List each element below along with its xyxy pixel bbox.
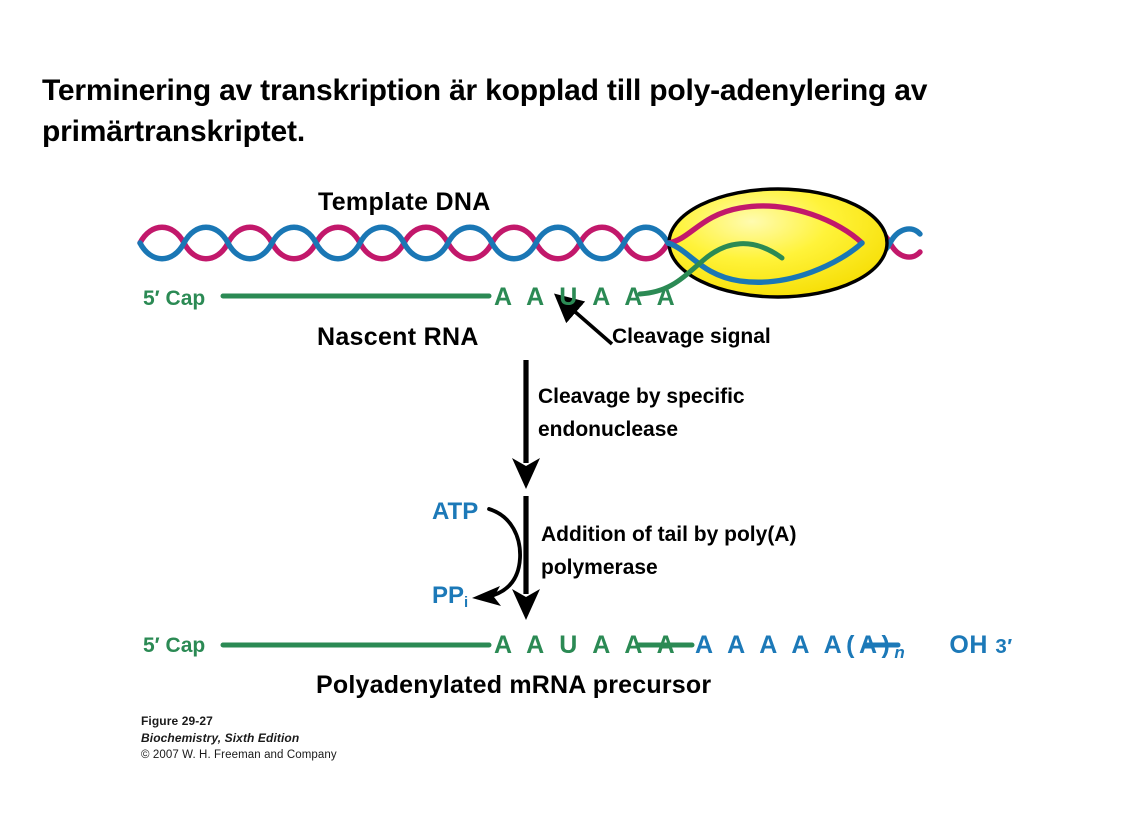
nascent-rna-label: Nascent RNA xyxy=(317,323,479,352)
cleavage-signal-sequence-bottom: A A U A A A xyxy=(494,631,679,660)
cleavage-signal-arrow xyxy=(573,310,612,344)
ppi-text: PP xyxy=(432,582,464,609)
polya-tail-label: A A A A A(A)n OH 3′ xyxy=(695,631,1013,660)
ppi-subscript: i xyxy=(464,595,468,611)
five-prime-cap-bottom-label: 5′ Cap xyxy=(143,634,205,658)
polyadenylated-mrna-label: Polyadenylated mRNA precursor xyxy=(316,671,711,700)
polya-tail-runs: A A A A A(A) xyxy=(695,631,894,659)
credit-book-title: Biochemistry, Sixth Edition xyxy=(141,730,337,747)
five-prime-cap-top-label: 5′ Cap xyxy=(143,287,205,311)
figure-credit: Figure 29-27 Biochemistry, Sixth Edition… xyxy=(141,713,337,763)
cleavage-signal-label: Cleavage signal xyxy=(612,325,771,349)
template-dna-label: Template DNA xyxy=(318,188,491,217)
polya-tail-n-subscript: n xyxy=(894,643,904,662)
figure-diagram: Template DNA Nascent RNA Cleavage signal… xyxy=(0,0,1130,816)
atp-label: ATP xyxy=(432,498,478,526)
polya-tail-oh: OH xyxy=(949,631,988,659)
atp-to-ppi-curved-arrow xyxy=(472,509,520,606)
ppi-label: PPi xyxy=(432,582,468,610)
slide-canvas: Terminering av transkription är kopplad … xyxy=(0,0,1130,816)
polya-addition-step-label: Addition of tail by poly(A) polymerase xyxy=(541,519,821,584)
polya-step-arrow xyxy=(512,496,540,620)
credit-figure-number: Figure 29-27 xyxy=(141,713,337,730)
credit-copyright: © 2007 W. H. Freeman and Company xyxy=(141,747,337,763)
cleavage-step-arrow xyxy=(512,360,540,489)
cleavage-signal-sequence-top: A A U A A A xyxy=(494,283,679,312)
polya-tail-three-prime: 3′ xyxy=(995,635,1012,658)
dna-double-helix-left xyxy=(140,227,668,259)
cleavage-step-label: Cleavage by specific endonuclease xyxy=(538,381,818,446)
